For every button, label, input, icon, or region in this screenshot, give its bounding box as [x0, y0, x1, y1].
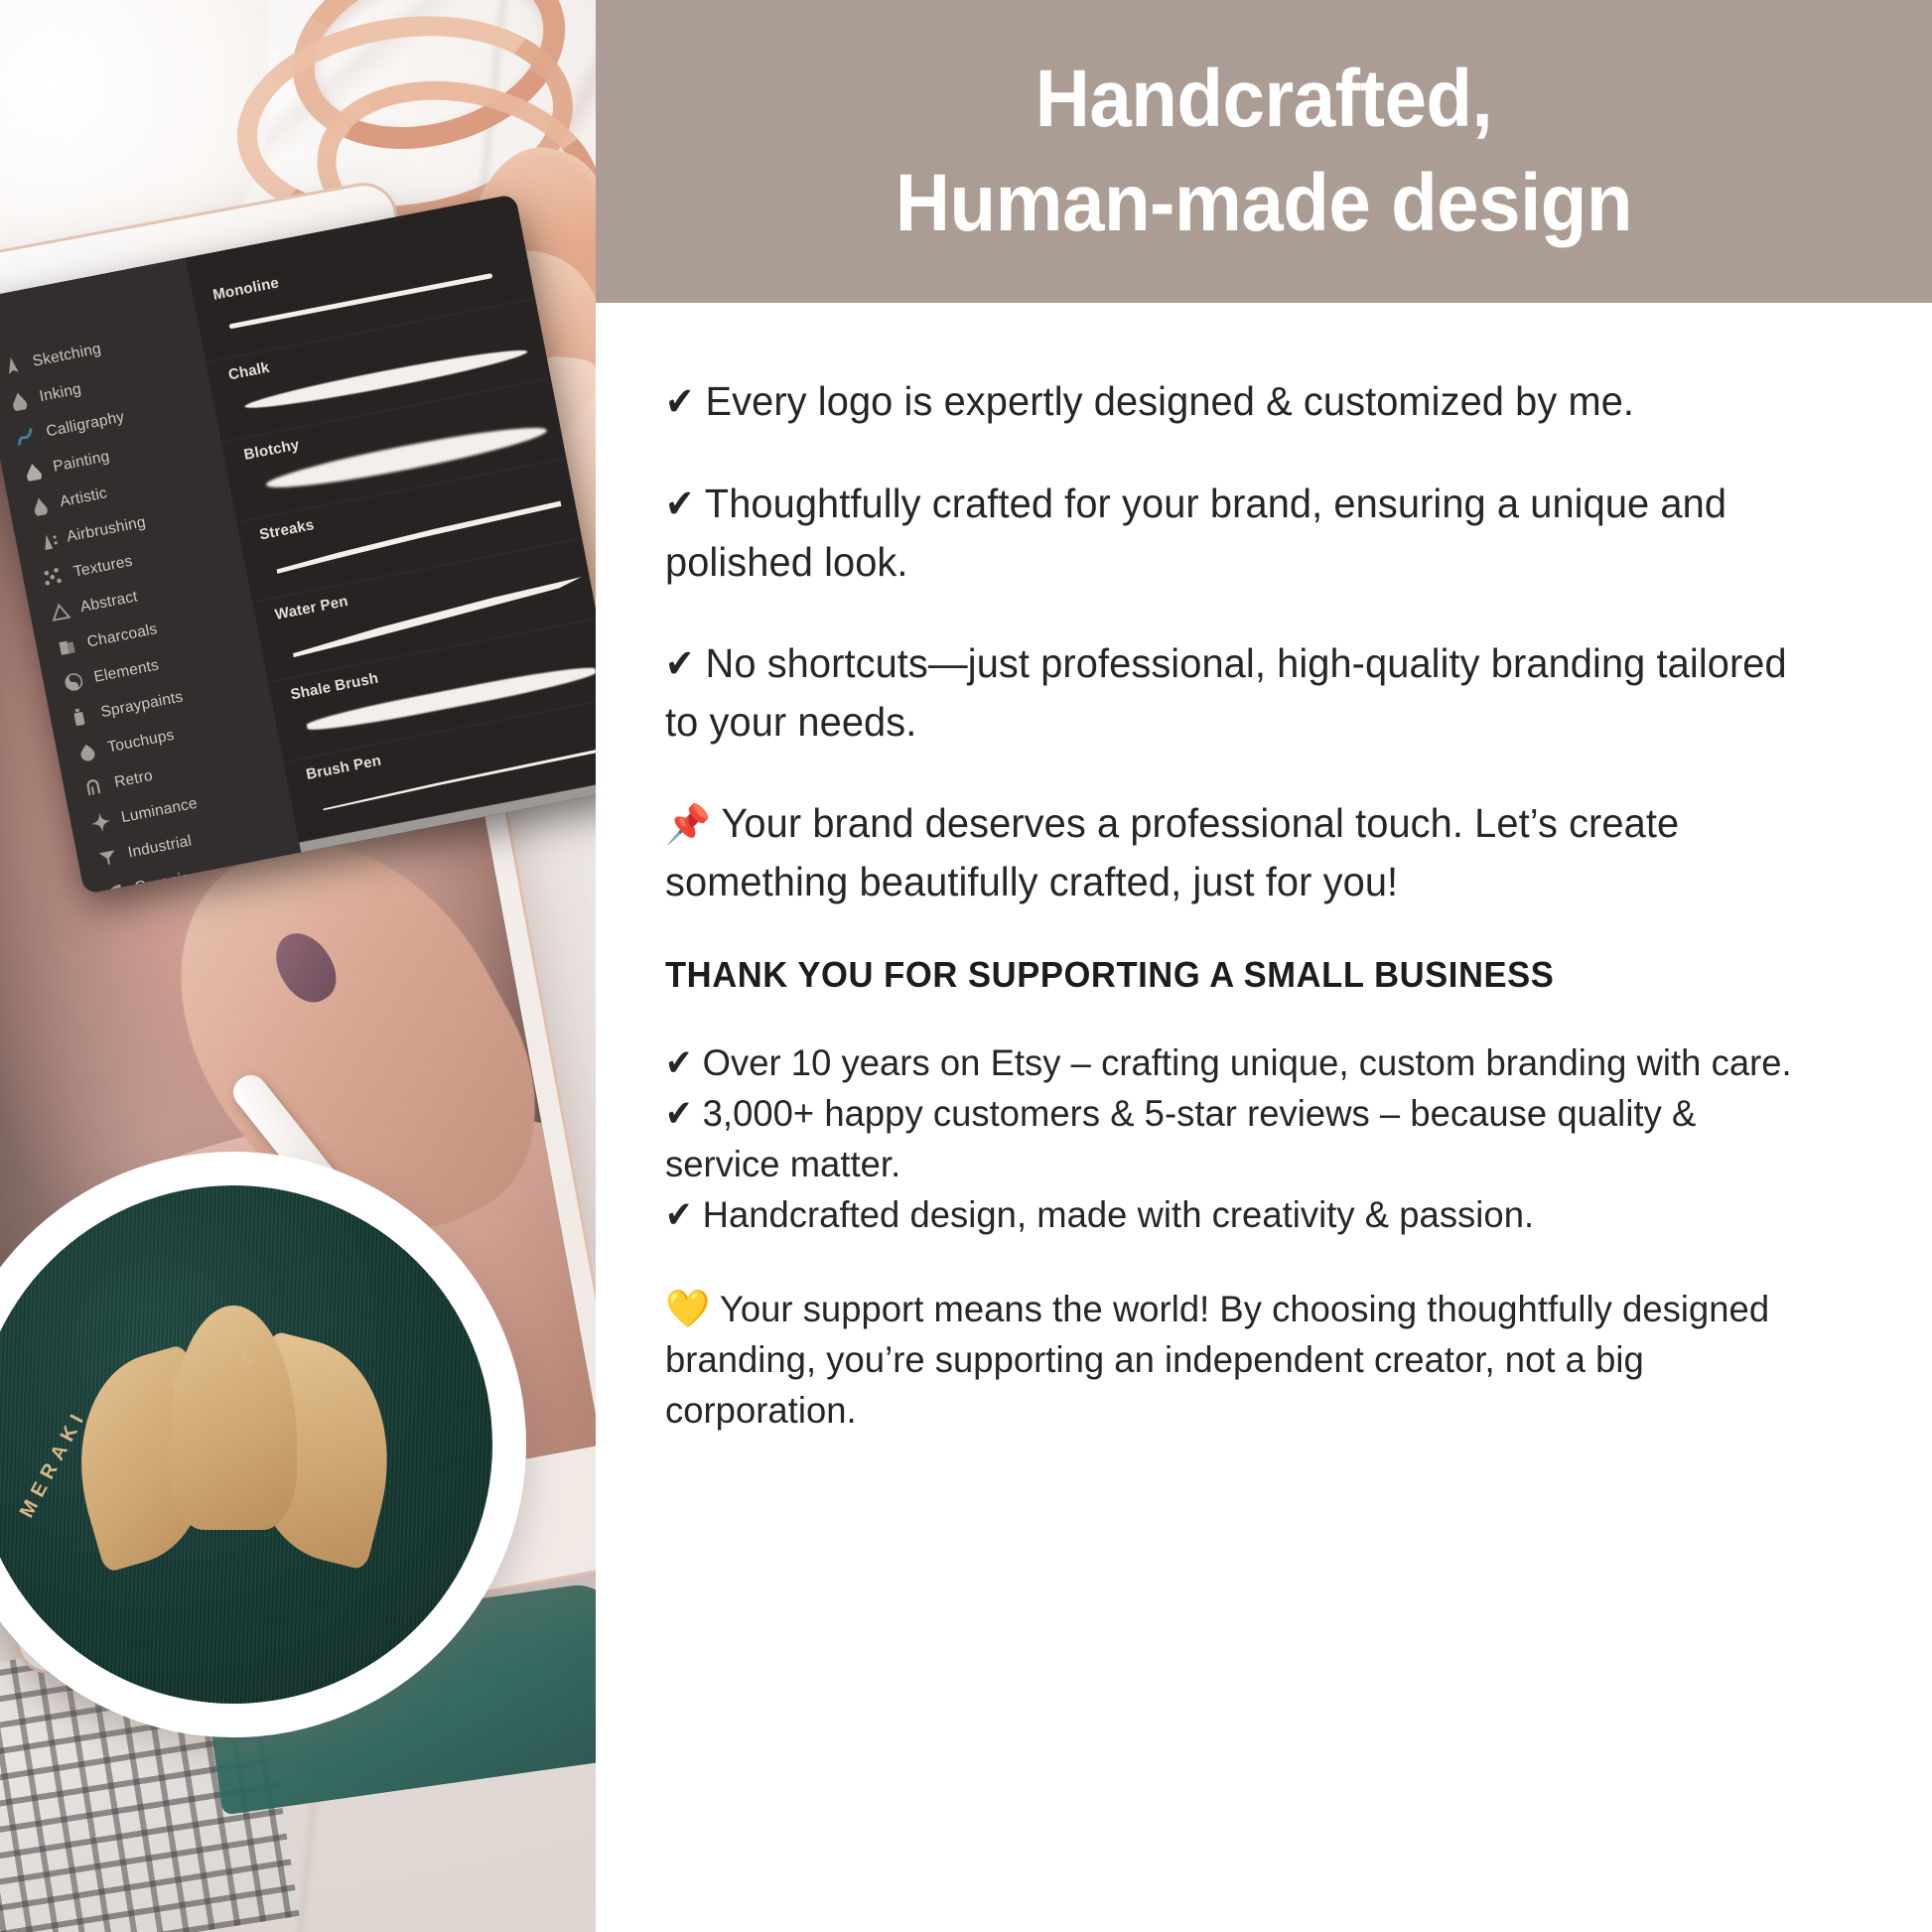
brush-category-label: Calligraphy	[45, 409, 126, 442]
elements-icon	[60, 669, 87, 695]
credential-text: 3,000+ happy customers & 5-star reviews …	[665, 1092, 1696, 1184]
credential-item: ✔ Over 10 years on Etsy – crafting uniqu…	[665, 1037, 1819, 1088]
luminance-icon	[87, 809, 115, 835]
title-line-1: Handcrafted,	[896, 48, 1632, 152]
sketching-icon	[0, 353, 26, 379]
brush-category-label: Sketching	[31, 341, 102, 371]
textures-icon	[40, 564, 68, 590]
feature-bullet-text: Every logo is expertly designed & custom…	[706, 378, 1635, 424]
artistic-icon	[26, 493, 54, 519]
brush-category-label: Industrial	[127, 832, 194, 862]
credentials-list: ✔ Over 10 years on Etsy – crafting uniqu…	[665, 1037, 1855, 1240]
retro-icon	[80, 774, 108, 800]
yellow-heart-emoji-icon: 💛	[665, 1288, 710, 1329]
check-mark-icon: ✔	[665, 1092, 692, 1134]
closing-text: Your support means the world! By choosin…	[665, 1288, 1769, 1431]
closing-paragraph: 💛 Your support means the world! By choos…	[665, 1284, 1819, 1436]
poster-canvas: ✍ ● ▭ ☷ + Brush Library Sketching Inking	[0, 0, 1932, 1932]
check-mark-icon: ✔	[665, 1041, 692, 1083]
check-mark-icon: ✔	[665, 380, 694, 424]
thanks-heading: THANK YOU FOR SUPPORTING A SMALL BUSINES…	[665, 954, 1807, 996]
body-content: ✔ Every logo is expertly designed & cust…	[596, 303, 1932, 1436]
feature-bullet: 📌 Your brand deserves a professional tou…	[665, 794, 1819, 910]
feature-bullet-text: No shortcuts—just professional, high-qua…	[665, 640, 1787, 745]
credential-item: ✔ 3,000+ happy customers & 5-star review…	[665, 1088, 1819, 1189]
brush-category-label: Retro	[113, 767, 155, 792]
touchups-icon	[73, 740, 101, 765]
credential-text: Over 10 years on Etsy – crafting unique,…	[703, 1041, 1792, 1083]
brush-category-label: Touchups	[106, 727, 176, 758]
brush-category-label: Artistic	[59, 484, 109, 511]
feature-bullet-text: Thoughtfully crafted for your brand, ens…	[665, 481, 1726, 585]
brush-category-label: Elements	[92, 657, 160, 687]
check-mark-icon: ✔	[665, 1193, 692, 1235]
spraypaints-icon	[67, 704, 94, 730]
brush-category-label: Painting	[52, 448, 111, 477]
brush-category-label: Charcoals	[85, 621, 159, 651]
airbrushing-icon	[33, 529, 61, 555]
painting-icon	[19, 459, 47, 484]
brush-category-label: Luminance	[120, 795, 200, 827]
pushpin-emoji-icon: 📌	[665, 804, 711, 846]
logo-separator: +	[169, 1372, 182, 1398]
brush-category-label: Inking	[38, 380, 82, 406]
credential-text: Handcrafted design, made with creativity…	[703, 1193, 1535, 1235]
brush-category-label: Abstract	[78, 588, 139, 617]
feature-bullet-text: Your brand deserves a professional touch…	[665, 800, 1679, 904]
logo-disc: MERAKI + BL	[0, 1185, 492, 1704]
abstract-icon	[47, 599, 74, 624]
hero-banner: Handcrafted, Human-made design	[596, 0, 1932, 303]
inking-icon	[6, 388, 34, 414]
check-mark-icon: ✔	[665, 642, 694, 686]
credential-item: ✔ Handcrafted design, made with creativi…	[665, 1189, 1819, 1240]
feature-bullet: ✔ No shortcuts—just professional, high-q…	[665, 634, 1819, 751]
feature-bullet: ✔ Thoughtfully crafted for your brand, e…	[665, 475, 1819, 591]
charcoals-icon	[54, 634, 81, 660]
calligraphy-icon	[12, 424, 40, 450]
feature-bullet: ✔ Every logo is expertly designed & cust…	[665, 372, 1819, 431]
brush-category-label: Textures	[72, 553, 135, 582]
check-mark-icon: ✔	[665, 483, 694, 526]
page-title: Handcrafted, Human-made design	[896, 48, 1632, 256]
product-photo: ✍ ● ▭ ☷ + Brush Library Sketching Inking	[0, 0, 596, 1932]
industrial-icon	[94, 845, 122, 871]
title-line-2: Human-made design	[896, 152, 1632, 256]
content-column: Handcrafted, Human-made design ✔ Every l…	[596, 0, 1932, 1932]
brush-library-panel[interactable]: Brush Library Sketching Inking Calligrap…	[0, 194, 596, 895]
